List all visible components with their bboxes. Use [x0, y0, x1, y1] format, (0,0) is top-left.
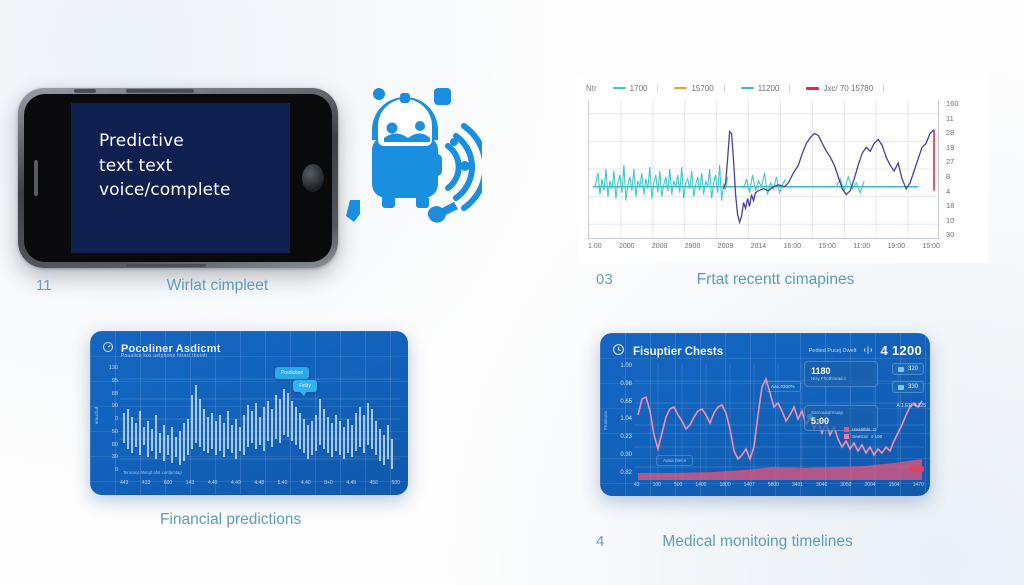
header-value: 4 1200 [880, 343, 922, 358]
volume-button[interactable] [34, 160, 38, 196]
q3-x-8: 4.40 [301, 480, 311, 490]
q3-y-2: 88 [112, 391, 118, 397]
x-tick-7: 15:00 [818, 243, 836, 257]
volatility-bars-svg [120, 365, 400, 477]
q4-y-3: 1.04 [620, 416, 632, 422]
phone-body: Predictive text text voice/complete [18, 88, 338, 268]
status-pill-1[interactable]: 320 [892, 363, 924, 375]
q4-x-3: 1400 [695, 482, 706, 492]
q4-y-2: 0.65 [620, 399, 632, 405]
caption-3: Financial predictions [160, 511, 560, 529]
card-x-axis: 443 433 600 143 4.40 4.49 4.48 5.40 4.40… [120, 480, 400, 490]
card-title: Fisuptier Chests [633, 346, 723, 358]
legend-swatch-2 [674, 87, 687, 89]
q3-x-10: 4.49 [346, 480, 356, 490]
q4-x-11: 1504 [889, 482, 900, 492]
metric-panel-1-value: 1180 [811, 366, 871, 376]
legend-title: Ntr [586, 84, 597, 93]
q4-x-9: 3050 [840, 482, 851, 492]
financial-predictions-card[interactable]: Pocoliner Asdicmt Poualice kos uelphone … [90, 331, 408, 495]
q4-y-1: 0.98 [620, 381, 632, 387]
phone-bezel: Predictive text text voice/complete [24, 94, 332, 262]
chart-plot-area [588, 100, 940, 239]
card-legend: Heatirbls 0 Seetcol 4 106 [844, 427, 882, 441]
q3-x-6: 4.48 [254, 480, 264, 490]
card-header-metrics: Pedied Pucej Dwelt 4 1200 [809, 343, 922, 358]
chart-note: Aaoa htece [656, 455, 693, 466]
x-tick-3: 2900 [685, 243, 701, 257]
q3-x-2: 600 [164, 480, 172, 490]
metric-panel-2-value: 5:00 [811, 416, 871, 426]
q3-y-5: 50 [112, 429, 118, 435]
card-y-axis: 130 95 88 90 0 50 80 30 0 [96, 365, 118, 473]
q4-y-4: 0.23 [620, 434, 632, 440]
q3-y-6: 80 [112, 442, 118, 448]
q4-x-12: 1470 [913, 482, 924, 492]
clock-icon [612, 343, 625, 361]
caption-2: 03 Frtat recentt cimapines [596, 271, 996, 289]
status-pill-2-value: 330 [908, 384, 918, 390]
q4-x-7: 3401 [792, 482, 803, 492]
card-header: Fisuptier Chests [612, 343, 723, 361]
legend-swatch-3 [741, 87, 754, 89]
q4-x-5: 1407 [744, 482, 755, 492]
card-footnote: Teroraryt hMopt nfot Lonfprntap [123, 470, 182, 475]
recent-campaigns-chart: Ntr 1700 15700 11200 Jxc/ 70 15780 [578, 78, 988, 263]
x-tick-1: 2000 [619, 243, 635, 257]
phone-bottom-grille [126, 264, 206, 267]
legend-label-1: 1700 [630, 84, 648, 93]
x-tick-5: 2014 [751, 243, 767, 257]
phone-screen[interactable]: Predictive text text voice/complete [71, 103, 290, 253]
x-tick-2: 2000 [652, 243, 668, 257]
y-tick-3: 19 [946, 144, 978, 152]
metric-panel-1[interactable]: 1180 Nlsy Fhothnead ir [804, 361, 878, 387]
legend-label-4: Jxc/ 70 15780 [823, 84, 873, 93]
q4-x-1: 100 [653, 482, 661, 492]
x-tick-10: 15:00 [922, 243, 940, 257]
prediction-tooltip-2[interactable]: Fxtity [293, 380, 317, 392]
header-label: Pedied Pucej Dwelt [809, 348, 857, 354]
legend-label-heartrate: Heatirbls [852, 427, 870, 432]
card-subtitle: Poualice kos uelphone htraci tbotab [121, 353, 207, 359]
q4-x-4: 1800 [720, 482, 731, 492]
monitor-icon [898, 385, 904, 390]
card-x-axis: 43 100 500 1400 1800 1407 5800 3401 3046… [634, 482, 924, 492]
y-tick-9: 30 [946, 231, 978, 239]
q3-x-3: 143 [186, 480, 194, 490]
q4-y-0: 1.00 [620, 363, 632, 369]
x-tick-8: 11:00 [853, 243, 870, 257]
screen-line-3: voice/complete [99, 178, 282, 203]
q3-y-1: 95 [112, 378, 118, 384]
legend-value-heartrate: 0 [873, 427, 876, 432]
q4-x-6: 5800 [768, 482, 779, 492]
phone-sensor [74, 89, 96, 93]
q3-x-7: 5.40 [278, 480, 288, 490]
legend-item-2[interactable]: 15700 [674, 84, 724, 93]
q3-x-5: 4.49 [231, 480, 241, 490]
caption-4: 4 Medical monitoing timelines [596, 533, 996, 551]
chart-legend: Ntr 1700 15700 11200 Jxc/ 70 15780 [586, 78, 988, 98]
caption-1-text: Wirlat cimpleet [167, 277, 269, 295]
y-tick-1: 11 [946, 115, 978, 123]
q3-x-9: 8+0 [324, 480, 332, 490]
prediction-tooltip-1[interactable]: Prediction [275, 367, 309, 379]
y-tick-4: 27 [946, 158, 978, 166]
y-tick-5: 8 [946, 173, 978, 181]
smartphone-mockup: Predictive text text voice/complete [18, 88, 338, 268]
q3-y-8: 0 [115, 467, 118, 473]
y-tick-0: 160 [946, 100, 978, 108]
legend-item-3[interactable]: 11200 [741, 84, 791, 93]
screen-line-1: Predictive [99, 129, 282, 154]
q4-y-6: 0.82 [620, 470, 632, 476]
q3-x-0: 443 [120, 480, 128, 490]
chart-x-axis: 1.00 2000 2000 2900 2009 2014 16:00 15:0… [588, 243, 940, 257]
legend-item-4[interactable]: Jxc/ 70 15780 [806, 84, 884, 93]
y-tick-6: 4 [946, 188, 978, 196]
legend-label-2: 15700 [691, 84, 713, 93]
metric-panel-1-label: Nlsy Fhothnead ir [811, 376, 871, 382]
q4-x-8: 3046 [816, 482, 827, 492]
legend-row-1: Heatirbls 0 [844, 427, 882, 432]
q3-y-7: 30 [112, 454, 118, 460]
q3-y-4: 0 [115, 416, 118, 422]
chart-svg [589, 100, 940, 238]
phone-speaker-grille [126, 89, 194, 93]
caption-1: 11 Wirlat cimpleet [36, 277, 506, 295]
card-y-axis: 1.00 0.98 0.65 1.04 0.23 0.30 0.82 [606, 363, 632, 476]
robot-assistant-icon [332, 80, 482, 245]
caption-4-number: 4 [596, 533, 604, 550]
q3-x-1: 433 [142, 480, 150, 490]
legend-swatch-1 [613, 87, 626, 89]
x-tick-9: 19:00 [888, 243, 906, 257]
side-metric: A 1.ER 4.125 [897, 403, 926, 409]
q4-y-5: 0.30 [620, 452, 632, 458]
screen-line-2: text text [99, 154, 282, 179]
y-tick-7: 18 [946, 202, 978, 210]
q3-x-12: 500 [392, 480, 400, 490]
status-pill-1-value: 320 [908, 366, 918, 372]
caption-2-text: Frtat recentt cimapines [697, 271, 855, 289]
q3-y-0: 130 [109, 365, 118, 371]
home-button[interactable] [302, 164, 324, 192]
q3-x-11: 456 [370, 480, 378, 490]
pulse-icon [863, 345, 873, 357]
legend-swatch-secondary [844, 434, 849, 439]
x-tick-0: 1.00 [588, 243, 602, 257]
alert-chip[interactable] [910, 466, 924, 472]
x-tick-6: 16:00 [783, 243, 801, 257]
card-plot-area [120, 365, 400, 477]
q4-x-0: 43 [634, 482, 640, 492]
medical-monitoring-card[interactable]: Fisuptier Chests Pedied Pucej Dwelt 4 12… [600, 333, 930, 496]
chart-y-axis: 160 11 28 19 27 8 4 18 10 30 [938, 100, 978, 239]
legend-row-2: Seetcol 4 106 [844, 434, 882, 439]
camera-icon [898, 367, 904, 372]
legend-swatch-heartrate [844, 427, 849, 432]
q4-x-10: 2004 [864, 482, 875, 492]
chart-annotation: Aa1.0200% [765, 381, 801, 392]
q4-x-2: 500 [674, 482, 682, 492]
q3-y-3: 90 [112, 403, 118, 409]
legend-value-secondary: 4 106 [871, 434, 883, 439]
screen-text-block: Predictive text text voice/complete [99, 129, 282, 203]
phone-showcase-panel: Predictive text text voice/complete [0, 60, 512, 310]
legend-label-3: 11200 [758, 84, 780, 93]
q3-x-4: 4.40 [208, 480, 218, 490]
caption-1-number: 11 [36, 277, 52, 294]
y-tick-8: 10 [946, 217, 978, 225]
x-tick-4: 2009 [718, 243, 734, 257]
y-tick-2: 28 [946, 129, 978, 137]
slide-canvas: Predictive text text voice/complete [0, 0, 1024, 585]
legend-item-1[interactable]: 1700 [613, 84, 659, 93]
legend-label-secondary: Seetcol [852, 434, 867, 439]
legend-swatch-4 [806, 87, 819, 90]
chart-gauge-icon [102, 340, 114, 358]
status-pill-2[interactable]: 330 [892, 381, 924, 393]
caption-2-number: 03 [596, 271, 613, 288]
caption-3-text: Financial predictions [160, 511, 301, 529]
caption-4-text: Medical monitoing timelines [662, 533, 852, 551]
